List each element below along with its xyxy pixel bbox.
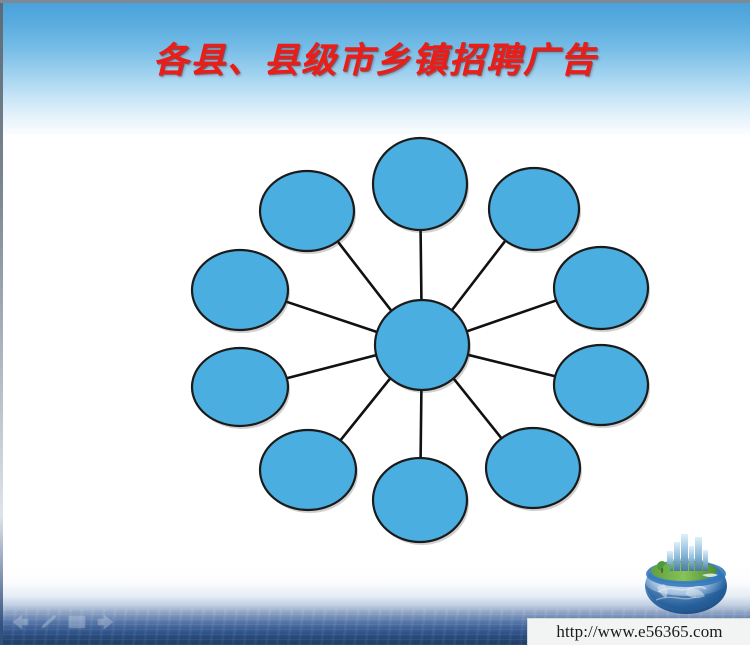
node-shape[interactable] xyxy=(554,345,648,425)
diagram-node-right-upper[interactable] xyxy=(554,247,650,332)
diagram-connector-8 xyxy=(340,378,390,440)
pen-icon[interactable] xyxy=(40,614,58,630)
diagram-node-left-lower[interactable] xyxy=(192,348,290,429)
diagram-node-top[interactable] xyxy=(373,138,469,233)
diagram-node-top-right[interactable] xyxy=(489,168,581,253)
node-shape[interactable] xyxy=(373,458,467,542)
watermark-bar: http://www.e56365.com xyxy=(527,618,750,645)
diagram-connector-10 xyxy=(421,390,422,458)
node-shape[interactable] xyxy=(373,138,467,230)
node-shape[interactable] xyxy=(260,430,356,510)
slide-canvas: 各县、县级市乡镇招聘广告 xyxy=(0,0,750,645)
diagram-connector-9 xyxy=(453,378,501,438)
node-shape[interactable] xyxy=(489,168,579,250)
node-shape[interactable] xyxy=(375,300,469,390)
diagram-node-top-left[interactable] xyxy=(260,171,356,254)
diagram-node-left-upper[interactable] xyxy=(192,250,290,333)
node-shape[interactable] xyxy=(260,171,354,251)
forward-arrow-icon[interactable] xyxy=(96,614,116,630)
diagram-nodes xyxy=(192,138,650,545)
diagram-node-right-lower[interactable] xyxy=(554,345,650,428)
diagram-connector-5 xyxy=(467,300,556,331)
diagram-node-bottom-right[interactable] xyxy=(486,428,582,511)
node-shape[interactable] xyxy=(192,250,288,330)
diagram-node-bottom-left[interactable] xyxy=(260,430,358,513)
diagram-node-bottom[interactable] xyxy=(373,458,469,545)
diagram-connector-1 xyxy=(421,230,422,300)
diagram-connector-2 xyxy=(338,241,392,310)
node-shape[interactable] xyxy=(192,348,288,426)
diagram-connector-6 xyxy=(287,355,376,378)
back-arrow-icon[interactable] xyxy=(10,614,30,630)
node-shape[interactable] xyxy=(554,247,648,329)
slide-icon[interactable] xyxy=(68,615,86,629)
slide-frame-left-edge xyxy=(0,0,3,645)
slideshow-nav-controls[interactable] xyxy=(10,611,120,633)
diagram-connector-3 xyxy=(452,241,506,311)
node-shape[interactable] xyxy=(486,428,580,508)
watermark-url: http://www.e56365.com xyxy=(556,622,722,642)
slide-frame-top-edge xyxy=(0,0,750,3)
globe-city-icon xyxy=(634,524,738,616)
diagram-connector-4 xyxy=(286,302,377,332)
diagram-connector-7 xyxy=(468,355,555,376)
